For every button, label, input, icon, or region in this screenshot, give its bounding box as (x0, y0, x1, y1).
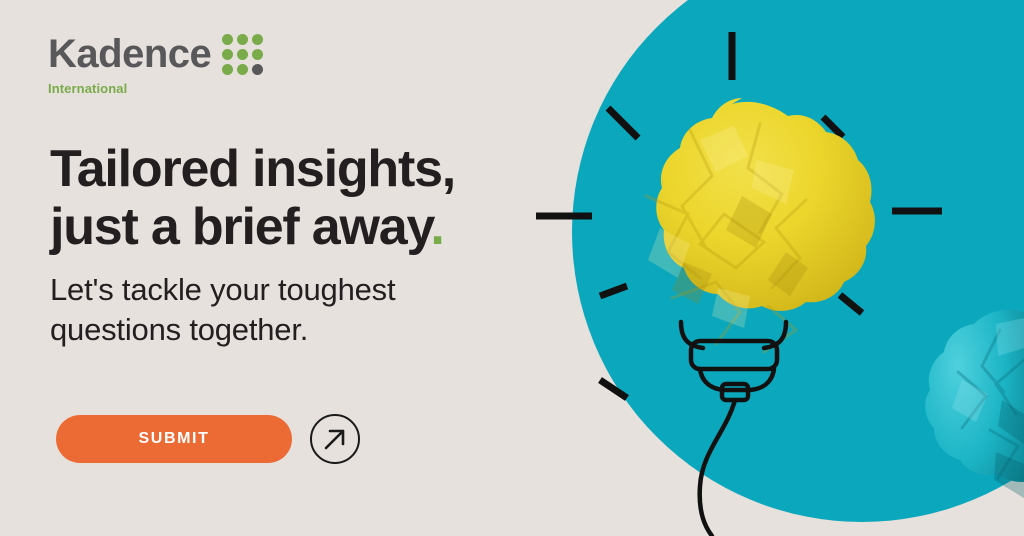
page-title: Tailored insights, just a brief away. (50, 140, 590, 256)
logo-dot (222, 64, 233, 75)
logo-dot (237, 49, 248, 60)
logo-row: Kadence (48, 32, 263, 75)
brand-logo[interactable]: Kadence International (48, 32, 263, 96)
logo-dot (237, 64, 248, 75)
logo-dot (237, 34, 248, 45)
logo-tagline: International (48, 81, 127, 96)
crumpled-paper-ball-icon (646, 98, 875, 352)
logo-wordmark: Kadence (48, 34, 211, 74)
logo-dot (252, 34, 263, 45)
headline-line-2: just a brief away (50, 198, 430, 256)
hero-copy: Tailored insights, just a brief away. Le… (50, 140, 590, 350)
logo-dot (252, 49, 263, 60)
promo-banner: Kadence International Tailored insights,… (0, 0, 1024, 536)
bulb-cord-icon (700, 400, 735, 536)
logo-dot (222, 49, 233, 60)
logo-dot (222, 34, 233, 45)
hero-subheading: Let's tackle your toughest questions tog… (50, 270, 450, 349)
arrow-up-right-icon[interactable] (310, 414, 360, 464)
headline-line-1: Tailored insights, (50, 140, 455, 198)
cta-group: SUBMIT (56, 414, 360, 464)
lightbulb-base-icon (681, 322, 786, 400)
submit-button[interactable]: SUBMIT (56, 415, 292, 463)
teal-paper-ball-icon (925, 310, 1024, 536)
logo-dot-accent (252, 64, 263, 75)
headline-accent-period: . (430, 198, 443, 256)
logo-dot-grid-icon (222, 34, 263, 75)
teal-circle (572, 0, 1024, 522)
light-rays-icon (536, 32, 942, 398)
